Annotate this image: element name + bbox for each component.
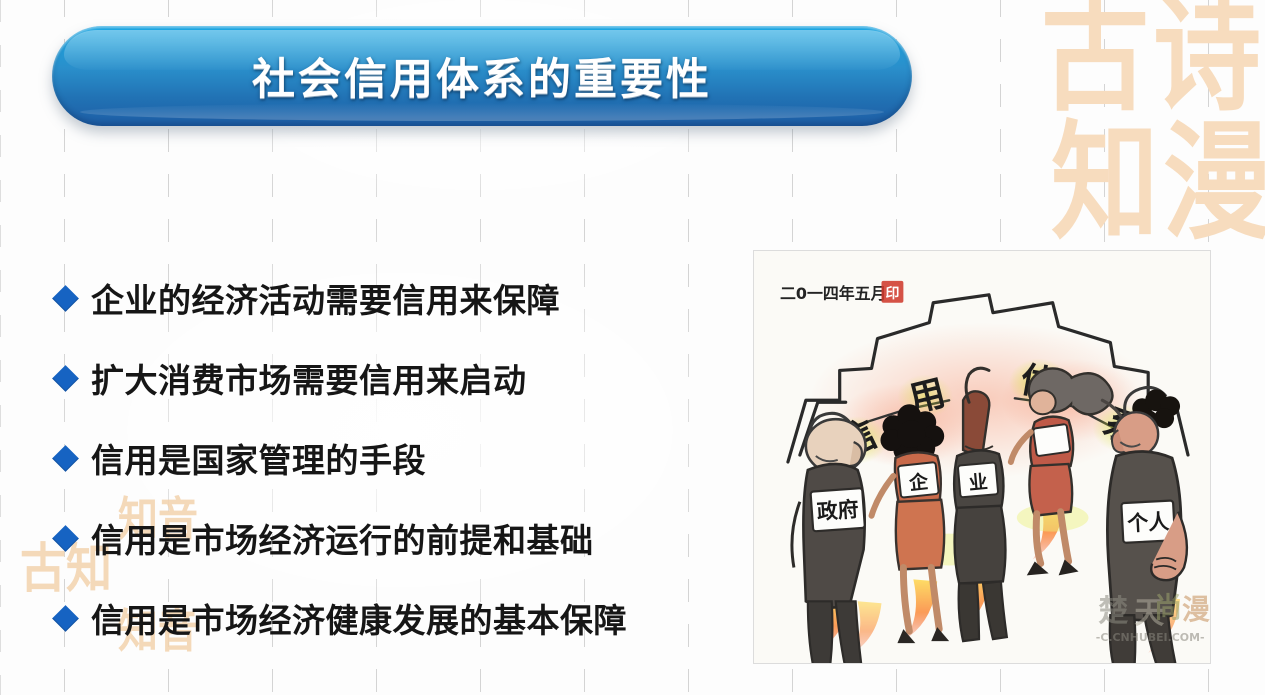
page-title: 社会信用体系的重要性: [252, 45, 712, 107]
list-item: 信用是国家管理的手段: [52, 432, 712, 484]
diamond-bullet-icon: [52, 445, 79, 472]
diamond-bullet-icon: [52, 365, 79, 392]
list-item: 扩大消费市场需要信用来启动: [52, 352, 712, 404]
seal-stamp-label: 印: [885, 285, 899, 302]
list-item: 信用是市场经济健康发展的基本保障: [52, 592, 712, 644]
diamond-bullet-icon: [52, 605, 79, 632]
cartoon-illustration: 信 用 体 系: [753, 250, 1211, 664]
figure-label-enterprise-a: 企: [907, 470, 930, 495]
bullet-list: 企业的经济活动需要信用来保障 扩大消费市场需要信用来启动 信用是国家管理的手段 …: [52, 272, 712, 644]
list-item-label: 信用是市场经济运行的前提和基础: [91, 514, 594, 562]
source-watermark-text-4: 漫: [1182, 593, 1210, 626]
title-banner: 社会信用体系的重要性: [52, 26, 912, 126]
list-item: 信用是市场经济运行的前提和基础: [52, 512, 712, 564]
figure-label-government: 政府: [816, 497, 859, 524]
source-watermark-text: 楚: [1098, 594, 1128, 629]
date-inscription: 二0一四年五月: [780, 284, 887, 303]
diamond-bullet-icon: [52, 525, 79, 552]
diamond-bullet-icon: [52, 285, 79, 312]
slide-canvas: 古诗知漫 知音 古知 知音 社会信用体系的重要性 企业的经济活动需要信用来保障 …: [0, 0, 1265, 695]
source-watermark: 楚 天 尚 漫 -C.CNHUBEI.COM-: [1096, 591, 1210, 644]
list-item-label: 企业的经济活动需要信用来保障: [91, 274, 560, 322]
seal-watermark-line2: 知漫: [1051, 122, 1265, 243]
list-item-label: 信用是市场经济健康发展的基本保障: [91, 594, 627, 642]
figure-label-enterprise-b: 业: [968, 471, 989, 495]
list-item-label: 信用是国家管理的手段: [91, 434, 426, 482]
figure-label-individual: 个人: [1126, 510, 1170, 536]
list-item-label: 扩大消费市场需要信用来启动: [91, 354, 527, 402]
source-watermark-url: -C.CNHUBEI.COM-: [1096, 631, 1205, 644]
source-watermark-text-3: 尚: [1154, 591, 1182, 624]
list-item: 企业的经济活动需要信用来保障: [52, 272, 712, 324]
seal-watermark-line1: 古诗: [1041, 0, 1265, 129]
seal-script-watermark-topright: 古诗知漫: [1041, 0, 1265, 243]
illustration-artwork: 信 用 体 系: [754, 251, 1210, 663]
date-inscription-group: 二0一四年五月 印: [780, 281, 903, 303]
